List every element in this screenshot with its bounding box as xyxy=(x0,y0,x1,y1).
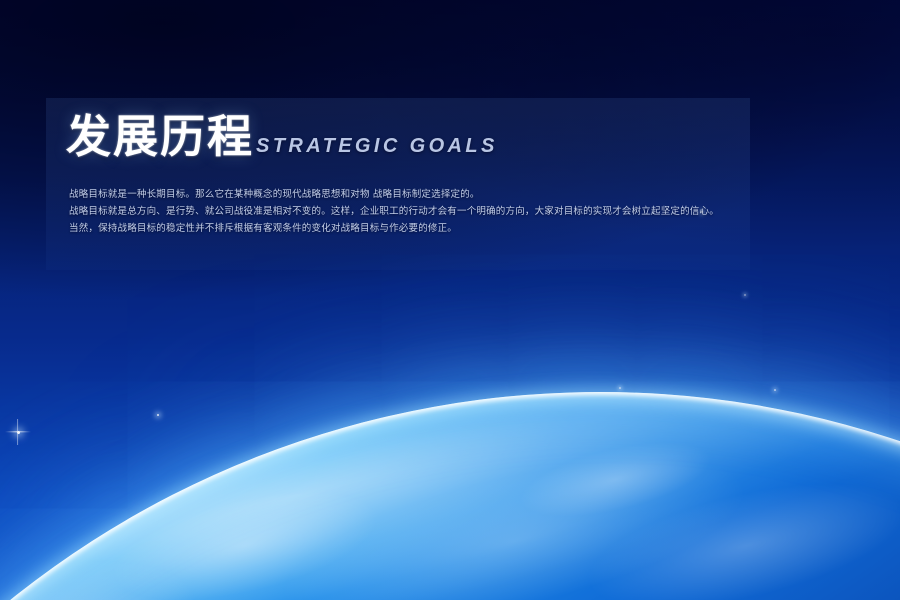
star-faint-low-icon xyxy=(744,294,745,295)
star-small-mid-icon xyxy=(157,414,159,416)
earth-globe xyxy=(0,205,900,600)
star-faint-upper-icon xyxy=(774,389,776,391)
description-line: 当然，保持战略目标的稳定性并不排斥根据有客观条件的变化对战略目标与作必要的修正。 xyxy=(69,220,729,237)
sky-gradient xyxy=(0,0,900,600)
earth-scene xyxy=(0,0,900,600)
description-line: 战略目标就是总方向、是行势、就公司战役准是相对不变的。这样，企业职工的行动才会有… xyxy=(69,203,729,220)
page-title: 发展历程 xyxy=(66,114,254,159)
description-line: 战略目标就是一种长期目标。那么它在某种概念的现代战略思想和对物 战略目标制定选择… xyxy=(69,186,729,203)
banner-canvas: 发展历程 STRATEGIC GOALS 战略目标就是一种长期目标。那么它在某种… xyxy=(0,0,900,600)
star-bright-left-icon xyxy=(17,431,20,434)
banner-headline: 发展历程 STRATEGIC GOALS xyxy=(66,114,498,159)
star-faint-top-icon xyxy=(619,387,621,389)
page-subtitle: STRATEGIC GOALS xyxy=(256,136,498,156)
atmosphere-rim xyxy=(0,205,900,600)
banner-description: 战略目标就是一种长期目标。那么它在某种概念的现代战略思想和对物 战略目标制定选择… xyxy=(69,186,729,237)
